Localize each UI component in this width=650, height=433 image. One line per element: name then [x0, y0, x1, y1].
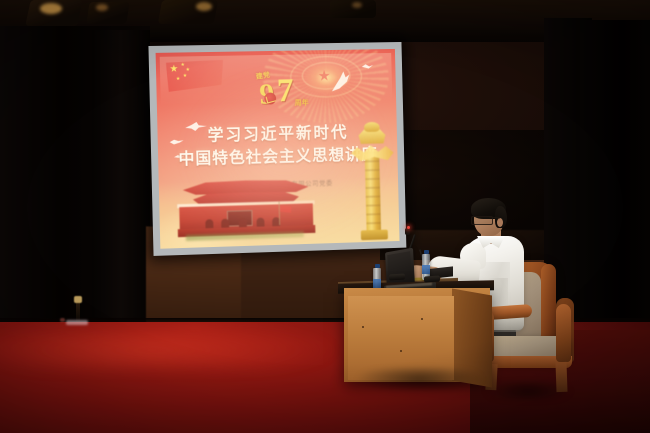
presentation-slide: 建党 9 7 周年 学习习近平新时代 中国特色社会主义思想讲座 中太建设集团股份… — [156, 49, 400, 249]
projection-screen: 建党 9 7 周年 学习习近平新时代 中国特色社会主义思想讲座 中太建设集团股份… — [148, 42, 406, 256]
gate-archway — [256, 218, 264, 227]
podium-fastener — [421, 318, 423, 320]
armchair-rear-leg — [555, 362, 567, 392]
podium-fastener — [400, 350, 402, 352]
podium-fastener — [362, 326, 364, 328]
microphone-head — [405, 228, 410, 235]
stage-curtain-middle — [92, 30, 150, 320]
podium-shadow — [330, 368, 510, 390]
floor-stand-top — [74, 296, 82, 303]
logo-suffix-text: 周年 — [295, 100, 309, 107]
floor-stand-pole — [76, 300, 80, 322]
bottle-cap — [424, 250, 429, 254]
stage-light-fixture — [86, 2, 129, 24]
dark-background-area — [380, 130, 560, 260]
tiananmen-gate-graphic — [177, 179, 316, 245]
column-beast-figure — [364, 122, 380, 132]
hammer-sickle-icon — [264, 92, 276, 104]
bottle-label — [422, 265, 430, 274]
floor-small-object — [60, 318, 65, 322]
bottle-label — [373, 279, 381, 288]
stage-lamp-glow — [352, 2, 362, 8]
microphone-base — [424, 275, 440, 282]
stage-lamp-glow — [196, 2, 212, 11]
floor-stand-base — [66, 320, 88, 325]
column-rings — [365, 151, 381, 238]
huabiao-column-graphic — [351, 122, 396, 241]
laptop-screen[interactable] — [387, 251, 412, 286]
stage-photograph: 建党 9 7 周年 学习习近平新时代 中国特色社会主义思想讲座 中太建设集团股份… — [0, 0, 650, 433]
stage-curtain-right — [580, 20, 650, 360]
anniversary-logo: 建党 9 7 周年 — [255, 72, 316, 115]
microphone-base — [389, 273, 405, 280]
stage-lamp-glow — [96, 4, 108, 11]
logo-number-seven: 7 — [277, 74, 294, 108]
gate-archway — [205, 219, 213, 228]
chinese-flag-icon — [166, 60, 224, 95]
gate-archway — [221, 219, 229, 228]
gate-archway — [239, 218, 247, 227]
armchair-back-frame — [541, 264, 556, 344]
bottle-cap — [375, 264, 380, 268]
speaker-ear — [497, 218, 503, 227]
microphone-indicator-light — [407, 226, 410, 229]
armchair-right-arm — [556, 304, 571, 362]
stage-lamp-glow — [40, 3, 62, 14]
column-base — [361, 230, 388, 241]
